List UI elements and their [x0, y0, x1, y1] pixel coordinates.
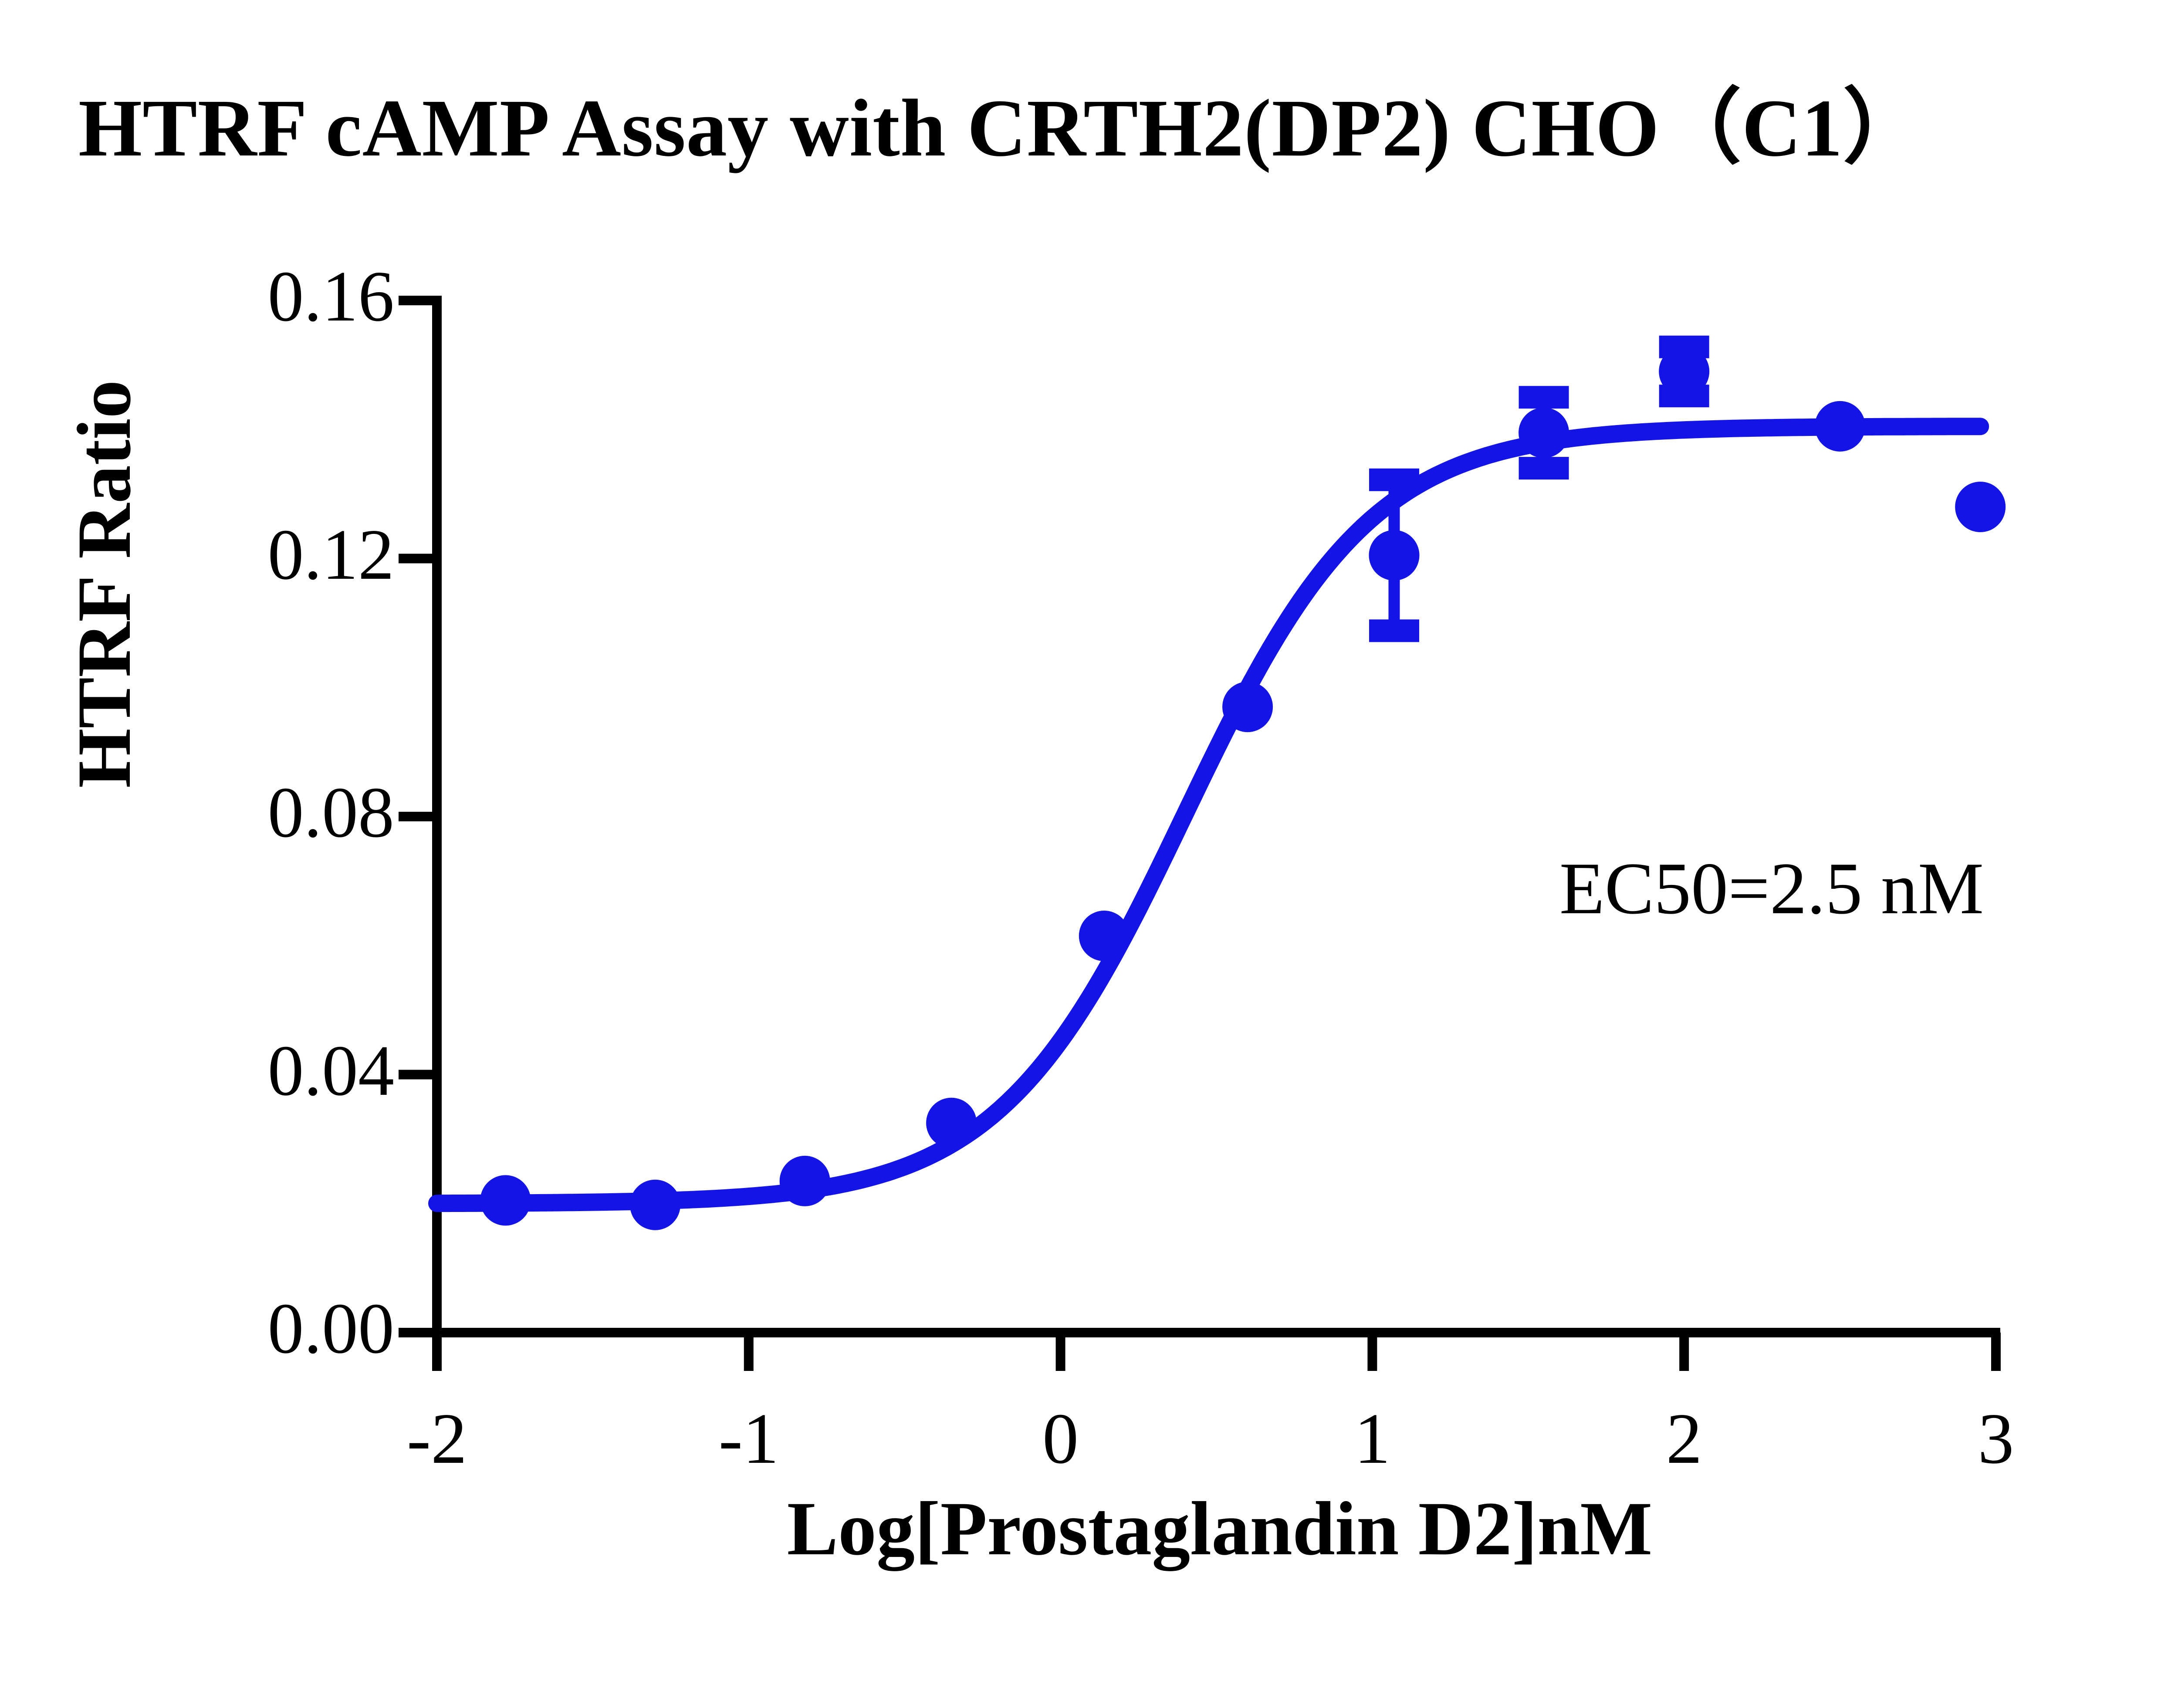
data-point-5: [1222, 682, 1273, 732]
data-point-8: [1659, 346, 1709, 397]
data-point-3: [926, 1098, 977, 1148]
data-points: [480, 346, 2006, 1230]
data-point-6: [1369, 530, 1420, 581]
data-point-7: [1519, 408, 1569, 458]
data-point-2: [780, 1156, 830, 1206]
plot-area: [0, 0, 2178, 1708]
dose-response-curve: [437, 426, 1980, 1203]
data-point-9: [1815, 401, 1865, 452]
chart-figure: HTRF cAMP Assay with CRTH2(DP2) CHO（C1） …: [0, 0, 2178, 1708]
data-point-0: [480, 1175, 531, 1225]
data-point-1: [630, 1180, 680, 1230]
fit-curve: [437, 426, 1980, 1203]
data-point-4: [1079, 911, 1130, 961]
data-point-10: [1955, 482, 2006, 532]
